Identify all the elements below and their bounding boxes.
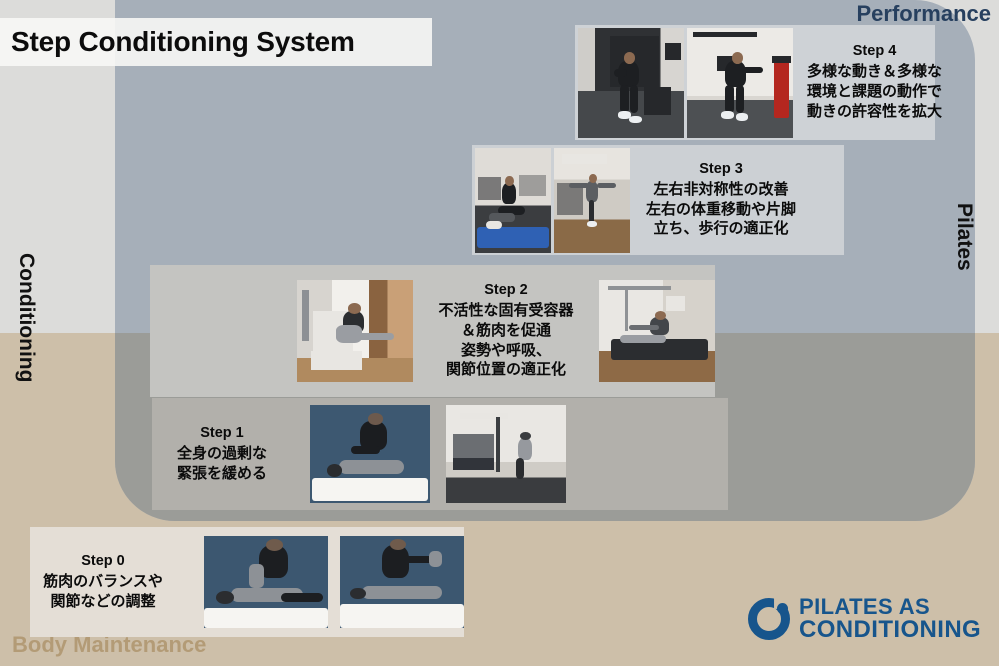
step-card-1: Step 1 全身の過剰な 緊張を緩める <box>152 398 728 510</box>
step-card-3-text: Step 3 左右非対称性の改善 左右の体重移動や片脚 立ち、歩行の適正化 <box>630 161 810 239</box>
step-card-1-text: Step 1 全身の過剰な 緊張を緩める <box>152 425 292 484</box>
step-card-2: Step 2 不活性な固有受容器 ＆筋肉を促通 姿勢や呼吸、 関節位置の適正化 <box>150 265 715 397</box>
c-ring-logo-icon <box>748 598 790 640</box>
brand-logo-line-2: CONDITIONING <box>799 618 981 642</box>
step-desc-line: 関節位置の適正化 <box>446 360 566 380</box>
step-desc-line: 関節などの調整 <box>50 592 155 612</box>
photo-woman-stretching-at-cadillac <box>446 405 566 503</box>
brand-logo-text: PILATES AS CONDITIONING <box>799 596 981 642</box>
photo-man-pulling-sled-rope <box>687 28 793 138</box>
step-desc-line: 動きの許容性を拡大 <box>807 102 942 122</box>
step-desc-line: 環境と課題の動作で <box>807 82 942 102</box>
step-label: Step 1 <box>200 425 244 441</box>
step-card-0: Step 0 筋肉のバランスや 関節などの調整 <box>30 527 464 637</box>
step-desc-line: 筋肉のバランスや <box>43 572 163 592</box>
step-label: Step 2 <box>484 282 528 298</box>
step-desc-line: 左右の体重移動や片脚 <box>646 200 796 220</box>
photo-therapist-releasing-client-on-table <box>310 405 430 503</box>
step-label: Step 0 <box>81 553 125 569</box>
brand-logo: PILATES AS CONDITIONING <box>748 596 981 642</box>
step-label: Step 4 <box>853 43 897 59</box>
step-label: Step 3 <box>699 161 743 177</box>
step-card-0-text: Step 0 筋肉のバランスや 関節などの調整 <box>30 553 176 612</box>
brand-logo-line-1: PILATES AS <box>799 596 981 618</box>
photo-trainer-assisting-client-on-reformer <box>599 280 715 382</box>
step-desc-line: 不活性な固有受容器 <box>438 301 573 321</box>
step-desc-line: 左右非対称性の改善 <box>654 180 789 200</box>
step-desc-line: ＆筋肉を促通 <box>461 321 551 341</box>
page-title: Step Conditioning System <box>0 26 355 58</box>
axis-label-conditioning: Conditioning <box>14 253 38 382</box>
axis-label-pilates: Pilates <box>952 203 976 271</box>
photo-therapist-adjusting-client-leg <box>340 536 464 628</box>
step-card-4-text: Step 4 多様な動き＆多様な 環境と課題の動作で 動きの許容性を拡大 <box>793 43 952 121</box>
step-desc-line: 立ち、歩行の適正化 <box>654 219 789 239</box>
photo-man-lunging-with-kettlebell <box>578 28 684 138</box>
axis-label-performance: Performance <box>856 1 991 27</box>
title-banner: Step Conditioning System <box>0 18 432 66</box>
step-card-4: Step 4 多様な動き＆多様な 環境と課題の動作で 動きの許容性を拡大 <box>575 25 935 140</box>
photo-trainer-stretching-client-on-blue-mat <box>475 148 551 253</box>
step-card-2-text: Step 2 不活性な固有受容器 ＆筋肉を促通 姿勢や呼吸、 関節位置の適正化 <box>413 282 599 380</box>
photo-therapist-adjusting-client-arm <box>204 536 328 628</box>
step-desc-line: 姿勢や呼吸、 <box>461 341 551 361</box>
step-desc-line: 多様な動き＆多様な <box>807 62 942 82</box>
photo-trainer-assisting-seated-client <box>297 280 413 382</box>
step-desc-line: 全身の過剰な <box>177 444 267 464</box>
step-card-3: Step 3 左右非対称性の改善 左右の体重移動や片脚 立ち、歩行の適正化 <box>472 145 844 255</box>
step-desc-line: 緊張を緩める <box>177 464 267 484</box>
photo-woman-single-leg-arm-raise <box>554 148 630 253</box>
